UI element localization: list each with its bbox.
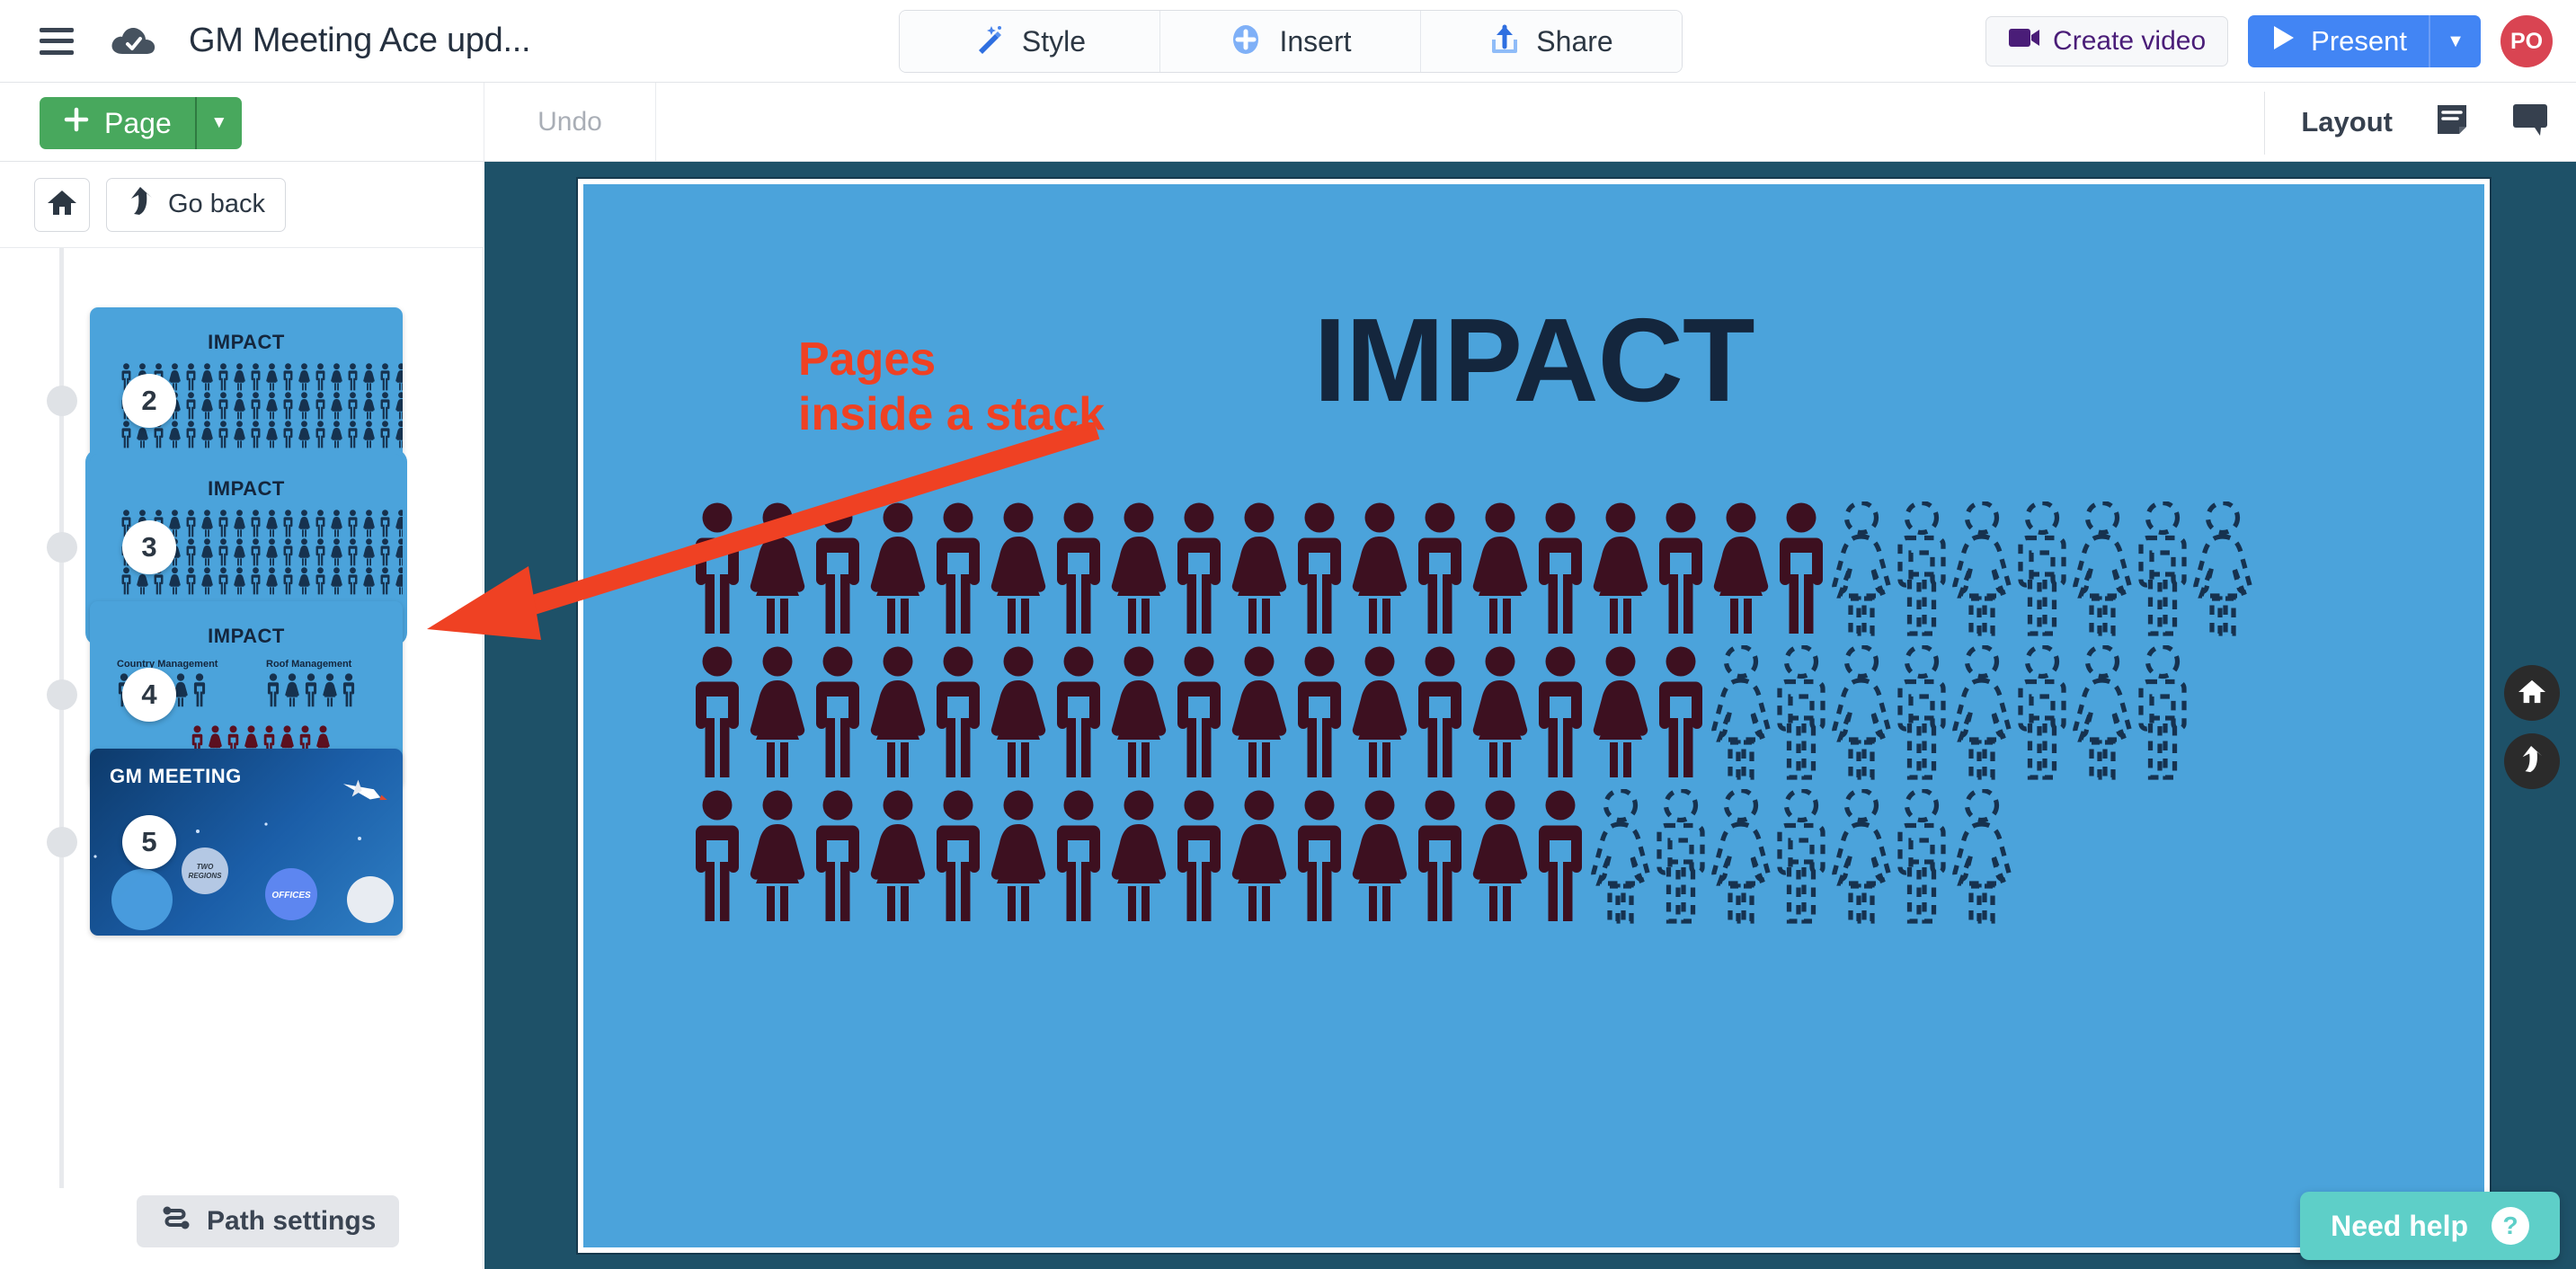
thumbnail-sublabel: Roof Management — [266, 659, 351, 670]
arrow-up-curve-icon — [2518, 745, 2545, 778]
people-row — [689, 638, 2379, 780]
people-infographic — [689, 494, 2379, 926]
insert-button[interactable]: Insert — [1160, 11, 1421, 72]
create-video-label: Create video — [2053, 26, 2206, 57]
svg-text:OFFICES: OFFICES — [271, 891, 311, 901]
present-dropdown-caret[interactable]: ▼ — [2429, 15, 2481, 67]
thumbnail-people-group — [266, 673, 359, 707]
path-dot[interactable] — [47, 386, 77, 416]
sidebar-nav: Go back — [0, 162, 484, 248]
annotation-line2: inside a stack — [798, 387, 1105, 442]
path-curve-icon — [160, 1204, 192, 1238]
document-title[interactable]: GM Meeting Ace upd... — [189, 22, 530, 60]
thumbnail-title: IMPACT — [90, 477, 403, 501]
canvas-area[interactable]: IMPACT — [484, 162, 2576, 1269]
thumbnail-title: IMPACT — [90, 625, 403, 648]
add-page-caret[interactable]: ▼ — [195, 97, 242, 149]
present-label: Present — [2311, 25, 2407, 58]
page-number-badge: 2 — [122, 374, 176, 428]
annotation-line1: Pages — [798, 333, 1105, 387]
home-icon — [2518, 678, 2546, 709]
need-help-button[interactable]: Need help ? — [2300, 1192, 2560, 1260]
toolbar-right-actions: Layout — [2301, 83, 2549, 161]
style-button[interactable]: Style — [900, 11, 1160, 72]
share-upload-icon — [1489, 23, 1520, 60]
hamburger-icon[interactable] — [40, 28, 74, 55]
plus-circle-icon — [1229, 22, 1263, 61]
page-thumbnail-5[interactable]: GM MEETING TWO REGIONS OFFICES 5 — [90, 749, 403, 936]
thumbnail-title: IMPACT — [90, 331, 403, 354]
top-header: GM Meeting Ace upd... Style — [0, 0, 2576, 83]
layout-button[interactable]: Layout — [2301, 106, 2393, 138]
header-actions: Create video Present ▼ PO — [1985, 0, 2553, 83]
cloud-check-icon — [110, 23, 156, 59]
thumbnail-people-row — [120, 567, 403, 596]
canvas-float-buttons — [2504, 665, 2560, 789]
video-camera-icon — [2008, 26, 2040, 57]
canvas-home-button[interactable] — [2504, 665, 2560, 721]
app-root: GM Meeting Ace upd... Style — [0, 0, 2576, 1269]
present-button[interactable]: Present — [2248, 15, 2429, 67]
play-triangle-icon — [2271, 24, 2296, 58]
path-dot[interactable] — [47, 679, 77, 710]
thumbnail-people-row — [120, 421, 403, 449]
home-icon — [47, 188, 77, 221]
svg-text:TWO: TWO — [197, 863, 214, 871]
left-sidebar: Go back IMPACT — [0, 162, 484, 1269]
toolbar-divider — [2264, 92, 2265, 155]
notes-icon[interactable] — [2434, 102, 2470, 142]
people-row — [689, 782, 2379, 924]
page-number-badge: 4 — [122, 668, 176, 722]
share-label: Share — [1536, 25, 1612, 58]
present-button-group[interactable]: Present ▼ — [2248, 15, 2481, 67]
avatar[interactable]: PO — [2500, 15, 2553, 67]
secondary-toolbar: Page ▼ Undo Layout — [0, 83, 2576, 162]
insert-label: Insert — [1279, 25, 1351, 58]
add-page-button-group[interactable]: Page ▼ — [40, 97, 242, 149]
canvas-go-back-button[interactable] — [2504, 733, 2560, 789]
comment-bubble-icon[interactable] — [2511, 102, 2549, 141]
undo-button[interactable]: Undo — [484, 83, 656, 161]
sidebar-go-back-label: Go back — [168, 190, 265, 219]
svg-text:REGIONS: REGIONS — [189, 872, 223, 880]
magic-wand-icon — [973, 23, 1006, 60]
people-row — [689, 494, 2379, 636]
path-settings-button[interactable]: Path settings — [137, 1195, 399, 1247]
path-dot[interactable] — [47, 532, 77, 563]
arrow-up-curve-icon — [127, 186, 155, 224]
annotation-text: Pages inside a stack — [798, 333, 1105, 443]
path-settings-label: Path settings — [207, 1206, 376, 1237]
question-mark-icon: ? — [2492, 1207, 2529, 1245]
page-number-badge: 5 — [122, 815, 176, 869]
create-video-button[interactable]: Create video — [1985, 16, 2228, 67]
sidebar-home-button[interactable] — [34, 178, 90, 232]
thumbnail-sublabel: Country Management — [117, 659, 218, 670]
plus-icon — [63, 106, 90, 140]
add-page-label: Page — [104, 107, 172, 140]
path-dot[interactable] — [47, 827, 77, 857]
center-toolbar: Style Insert — [899, 10, 1683, 73]
sidebar-go-back-button[interactable]: Go back — [106, 178, 286, 232]
share-button[interactable]: Share — [1421, 11, 1682, 72]
add-page-button[interactable]: Page — [40, 97, 195, 149]
style-label: Style — [1022, 25, 1086, 58]
page-thumbnail-list[interactable]: IMPACT — [0, 248, 484, 1188]
need-help-label: Need help — [2331, 1210, 2468, 1243]
page-number-badge: 3 — [122, 520, 176, 574]
